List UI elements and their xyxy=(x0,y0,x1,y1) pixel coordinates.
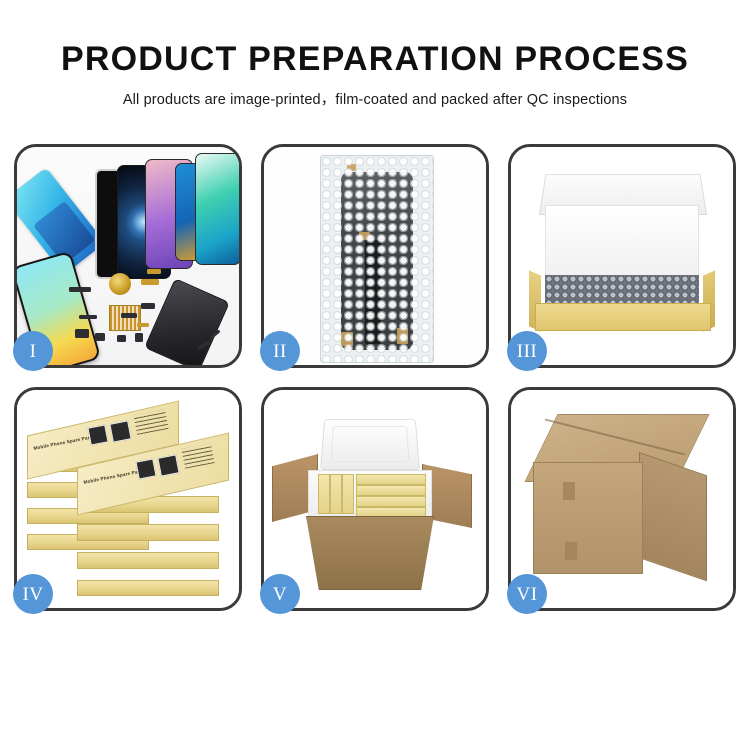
bubble-texture xyxy=(321,156,433,362)
step-badge-5: V xyxy=(260,574,300,614)
phone-rear-housing xyxy=(144,278,230,365)
step-1-image xyxy=(17,147,239,365)
stacked-box xyxy=(77,524,219,541)
stacked-box xyxy=(77,552,219,569)
green-phone-display xyxy=(195,153,239,265)
process-step-4: Mobile Phone Spare Parts Mobile Phone Sp… xyxy=(14,387,242,611)
bubble-wrap-bag xyxy=(320,155,434,363)
yellow-box-in-carton xyxy=(318,474,330,514)
box-front-panel xyxy=(535,303,711,331)
process-step-3: III xyxy=(508,144,736,368)
product-preparation-process-page: PRODUCT PREPARATION PROCESS All products… xyxy=(0,0,750,750)
foam-lid xyxy=(320,419,420,470)
carton-side-face xyxy=(639,452,707,581)
process-step-1: I xyxy=(14,144,242,368)
spare-part-chip xyxy=(79,315,97,319)
step-badge-1: I xyxy=(13,331,53,371)
carton-front-panel xyxy=(306,516,434,590)
gold-flex-cable xyxy=(137,323,149,327)
process-row-top: I II xyxy=(14,144,736,368)
yellow-box-in-carton xyxy=(356,474,426,485)
box-label-screen-image xyxy=(87,424,108,445)
step-6-image xyxy=(511,390,733,608)
process-step-5: V xyxy=(261,387,489,611)
process-row-bottom: Mobile Phone Spare Parts Mobile Phone Sp… xyxy=(14,387,736,611)
stacked-box xyxy=(77,580,219,596)
white-foam-sheet xyxy=(545,205,699,281)
yellow-box-in-carton xyxy=(342,474,354,514)
process-step-grid: I II xyxy=(14,144,736,611)
step-badge-2: II xyxy=(260,331,300,371)
step-badge-4: IV xyxy=(13,574,53,614)
carton-tape-strip xyxy=(563,482,575,500)
process-step-2: II xyxy=(261,144,489,368)
spare-part-chip xyxy=(95,333,105,341)
gold-flex-cable xyxy=(147,269,161,274)
yellow-box-in-carton xyxy=(330,474,342,514)
page-subtitle: All products are image-printed，film-coat… xyxy=(0,78,750,109)
yellow-box-in-carton xyxy=(356,496,426,507)
yellow-box-in-carton xyxy=(356,485,426,496)
box-label-screen-image xyxy=(157,454,179,476)
connector-grid-part xyxy=(109,305,141,331)
spare-part-chip xyxy=(135,333,143,342)
spare-part-chip xyxy=(75,329,89,338)
box-label-screen-image xyxy=(109,420,131,442)
step-3-image xyxy=(511,147,733,365)
step-badge-3: III xyxy=(507,331,547,371)
spare-part-chip xyxy=(141,303,155,309)
yellow-box-in-carton xyxy=(356,507,426,517)
gold-flex-cable xyxy=(141,279,159,285)
page-header: PRODUCT PREPARATION PROCESS All products… xyxy=(0,0,750,109)
step-badge-6: VI xyxy=(507,574,547,614)
step-5-image xyxy=(264,390,486,608)
carton-tape-strip xyxy=(565,542,577,560)
step-4-image: Mobile Phone Spare Parts Mobile Phone Sp… xyxy=(17,390,239,608)
spare-part-chip xyxy=(121,313,137,318)
spare-part-chip xyxy=(69,287,91,292)
bubble-wrapped-contents xyxy=(545,275,699,305)
process-step-6: VI xyxy=(508,387,736,611)
carton-front-face xyxy=(533,462,643,574)
box-label-screen-image xyxy=(135,458,156,479)
spare-part-chip xyxy=(117,335,126,342)
page-title: PRODUCT PREPARATION PROCESS xyxy=(0,0,750,78)
speaker-coil-part xyxy=(109,273,131,295)
step-2-image xyxy=(264,147,486,365)
